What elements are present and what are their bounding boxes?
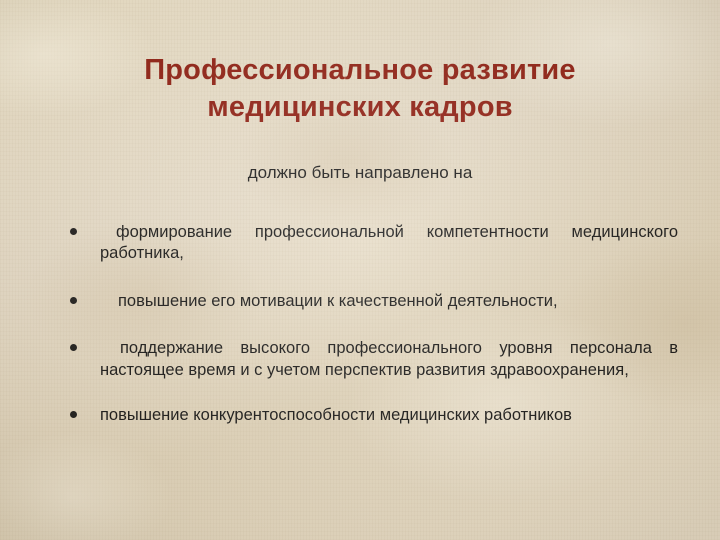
list-item-label: поддержание высокого профессионального у… <box>100 338 678 381</box>
list-item: повышение его мотивации к качественной д… <box>62 291 678 312</box>
list-item: повышение конкурентоспособности медицинс… <box>62 405 678 426</box>
list-item-label: повышение конкурентоспособности медицинс… <box>100 405 678 426</box>
bullet-dot-icon <box>70 228 77 235</box>
list-item: поддержание высокого профессионального у… <box>62 338 678 381</box>
slide-subtitle: должно быть направлено на <box>60 163 660 183</box>
list-item-label: повышение его мотивации к качественной д… <box>100 291 678 312</box>
slide-canvas: Профессиональное развитие медицинских ка… <box>0 0 720 540</box>
bullet-dot-icon <box>70 411 77 418</box>
list-item-label: формирование профессиональной компетентн… <box>100 222 678 265</box>
bullet-list: формирование профессиональной компетентн… <box>62 222 678 449</box>
bullet-dot-icon <box>70 344 77 351</box>
bullet-dot-icon <box>70 297 77 304</box>
list-item: формирование профессиональной компетентн… <box>62 222 678 265</box>
page-title: Профессиональное развитие медицинских ка… <box>60 52 660 126</box>
